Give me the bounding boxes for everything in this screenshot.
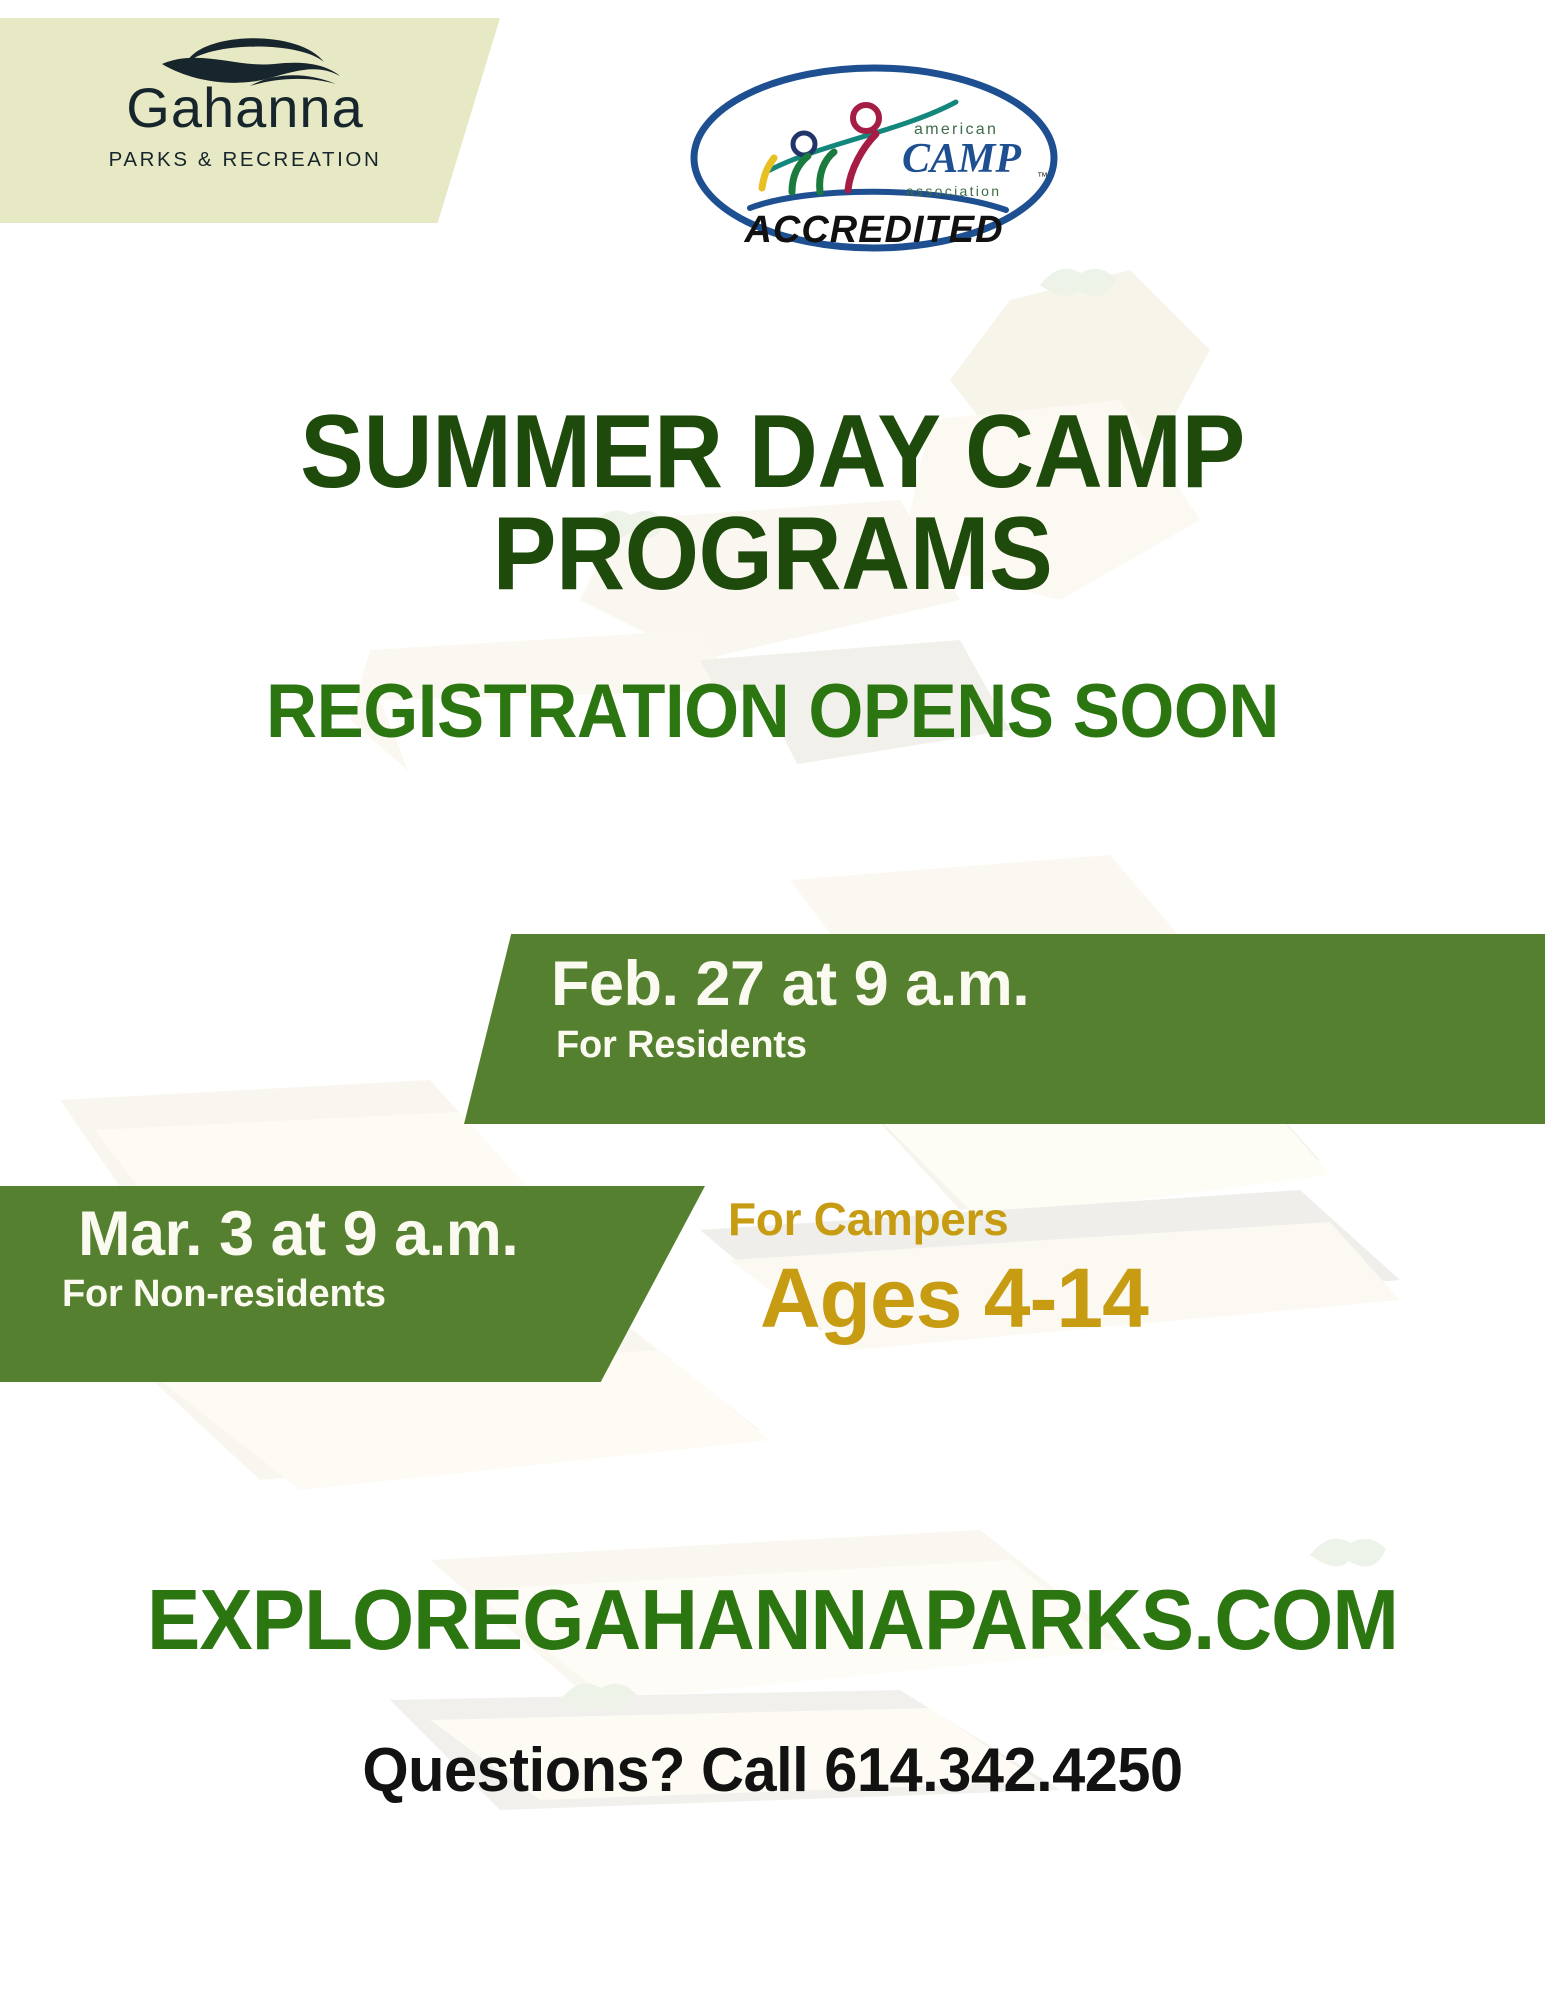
flyer-canvas: Gahanna PARKS & RECREATION american CAMP… [0, 0, 1545, 2000]
headline-block: SUMMER DAY CAMP PROGRAMS [0, 402, 1545, 606]
headline-line-2: PROGRAMS [62, 504, 1483, 606]
svg-text:™: ™ [1037, 171, 1048, 183]
nonresidents-date: Mar. 3 at 9 a.m. [78, 1198, 518, 1270]
questions-phone-line[interactable]: Questions? Call 614.342.4250 [31, 1735, 1514, 1806]
website-url[interactable]: EXPLOREGAHANNAPARKS.COM [46, 1572, 1498, 1670]
gahanna-logo: Gahanna PARKS & RECREATION [80, 28, 410, 188]
nonresidents-audience: For Non-residents [62, 1273, 386, 1316]
headline-line-1: SUMMER DAY CAMP [62, 402, 1483, 504]
gahanna-tagline: PARKS & RECREATION [80, 148, 410, 172]
gahanna-wordmark: Gahanna [80, 80, 410, 136]
subheadline: REGISTRATION OPENS SOON [54, 668, 1491, 755]
svg-text:ACCREDITED: ACCREDITED [743, 209, 1003, 251]
campers-age-range: Ages 4-14 [760, 1250, 1148, 1347]
campers-label: For Campers [728, 1192, 1008, 1246]
svg-text:association: association [906, 183, 1001, 199]
svg-text:CAMP: CAMP [902, 136, 1021, 182]
aca-accredited-badge-icon: american CAMP association ™ ACCREDITED [688, 60, 1060, 256]
residents-audience: For Residents [556, 1024, 807, 1067]
residents-date: Feb. 27 at 9 a.m. [551, 948, 1029, 1020]
